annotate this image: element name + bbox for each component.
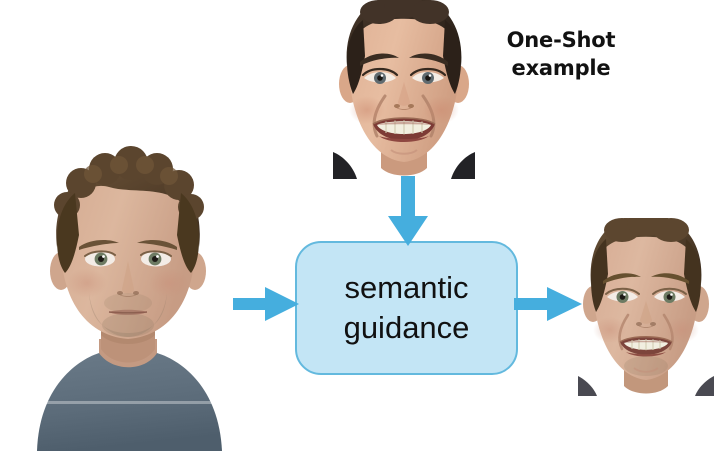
figure-canvas: One-Shot example semantic guidance (0, 0, 714, 453)
input-portrait-photo (17, 143, 238, 451)
output-portrait-photo (578, 218, 714, 396)
one-shot-example-illustration (333, 0, 475, 179)
semantic-guidance-label: semantic guidance (344, 268, 470, 348)
semantic-guidance-box: semantic guidance (295, 241, 518, 375)
input-portrait-illustration (17, 143, 238, 451)
output-portrait-illustration (578, 218, 714, 396)
arrow-right-icon-guidance-to-output (514, 286, 582, 322)
one-shot-example-photo (333, 0, 475, 179)
one-shot-example-caption: One-Shot example (481, 26, 641, 82)
arrow-right-icon-input-to-guidance (233, 286, 299, 322)
arrow-down-icon-one-shot-to-guidance (386, 176, 430, 246)
